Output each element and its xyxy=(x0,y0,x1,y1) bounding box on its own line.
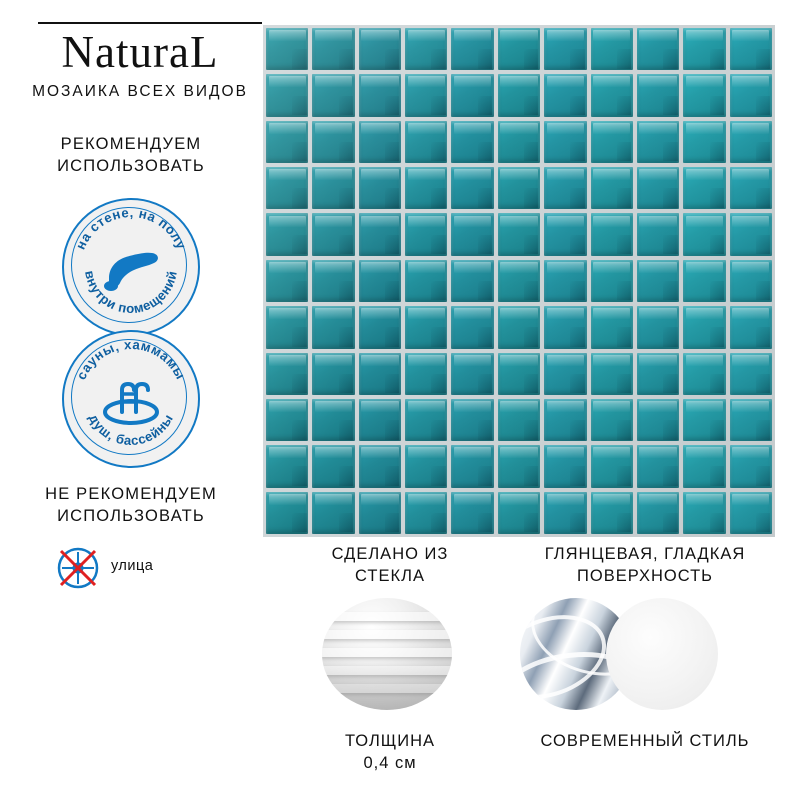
mosaic-tile xyxy=(637,213,679,255)
mosaic-tile xyxy=(405,121,447,163)
mosaic-tile xyxy=(544,306,586,348)
mosaic-tile xyxy=(359,492,401,534)
mosaic-tile xyxy=(405,492,447,534)
recommended-title-line1: РЕКОМЕНДУЕМ xyxy=(0,133,262,155)
mosaic-tile xyxy=(683,74,725,116)
mosaic-tile xyxy=(266,260,308,302)
mosaic-tile xyxy=(312,121,354,163)
mosaic-tile xyxy=(359,353,401,395)
mosaic-tile xyxy=(683,492,725,534)
mosaic-tile xyxy=(683,260,725,302)
mosaic-tile xyxy=(637,74,679,116)
mosaic-tile xyxy=(359,306,401,348)
brand-name: NaturaL xyxy=(20,30,260,75)
thickness-label: ТОЛЩИНА xyxy=(265,730,515,752)
mosaic-tile xyxy=(312,28,354,70)
recommended-title-line2: ИСПОЛЬЗОВАТЬ xyxy=(0,155,262,177)
mosaic-tile xyxy=(359,399,401,441)
pool-ladder-icon xyxy=(64,332,198,466)
mosaic-tile xyxy=(266,74,308,116)
mosaic-tile xyxy=(544,74,586,116)
product-infographic: NaturaL МОЗАИКА ВСЕХ ВИДОВ РЕКОМЕНДУЕМ И… xyxy=(0,0,800,800)
mosaic-tile xyxy=(637,445,679,487)
mosaic-tile xyxy=(359,213,401,255)
mosaic-tile xyxy=(683,445,725,487)
mosaic-tile xyxy=(312,74,354,116)
mosaic-tile xyxy=(544,28,586,70)
not-recommended-title-line2: ИСПОЛЬЗОВАТЬ xyxy=(0,505,262,527)
mosaic-tile xyxy=(498,121,540,163)
glass-sphere-icon xyxy=(322,598,452,710)
mosaic-tile xyxy=(405,260,447,302)
mosaic-tile xyxy=(359,74,401,116)
mosaic-tile xyxy=(359,167,401,209)
mosaic-tile xyxy=(405,167,447,209)
mosaic-tile xyxy=(591,492,633,534)
mosaic-tile xyxy=(405,445,447,487)
not-recommended-title-line1: НЕ РЕКОМЕНДУЕМ xyxy=(0,483,262,505)
mosaic-tile xyxy=(312,399,354,441)
mosaic-tile xyxy=(730,306,772,348)
mosaic-tile xyxy=(730,353,772,395)
mosaic-tile xyxy=(266,445,308,487)
mosaic-tile xyxy=(498,492,540,534)
mosaic-tile xyxy=(451,213,493,255)
mosaic-tile xyxy=(451,306,493,348)
mosaic-tile xyxy=(312,167,354,209)
mosaic-tile xyxy=(451,167,493,209)
mosaic-tile xyxy=(405,213,447,255)
mosaic-tile xyxy=(359,28,401,70)
mosaic-tile xyxy=(544,445,586,487)
mosaic-tile xyxy=(498,353,540,395)
brand-divider xyxy=(38,22,262,24)
mosaic-tile xyxy=(359,260,401,302)
mosaic-tile xyxy=(451,399,493,441)
mosaic-tile xyxy=(266,353,308,395)
feature-surface-title-line1: ГЛЯНЦЕВАЯ, ГЛАДКАЯ xyxy=(520,543,770,565)
mosaic-tile xyxy=(730,260,772,302)
mosaic-tile-grid xyxy=(263,25,775,537)
mosaic-tile xyxy=(312,306,354,348)
mosaic-tile xyxy=(591,260,633,302)
feature-surface-caption: СОВРЕМЕННЫЙ СТИЛЬ xyxy=(520,730,770,752)
mosaic-tile xyxy=(730,213,772,255)
mosaic-tile xyxy=(591,445,633,487)
brand-block: NaturaL МОЗАИКА ВСЕХ ВИДОВ xyxy=(20,30,260,101)
mosaic-tile xyxy=(359,445,401,487)
glossy-surface-icon xyxy=(520,598,770,710)
mosaic-tile xyxy=(591,213,633,255)
mosaic-tile xyxy=(683,213,725,255)
mosaic-tile xyxy=(730,167,772,209)
mosaic-tile xyxy=(591,399,633,441)
mosaic-tile xyxy=(451,260,493,302)
mosaic-tile xyxy=(637,399,679,441)
mosaic-tile xyxy=(266,167,308,209)
mosaic-tile xyxy=(591,121,633,163)
mosaic-tile xyxy=(683,353,725,395)
mosaic-tile xyxy=(544,121,586,163)
mosaic-tile xyxy=(730,445,772,487)
mosaic-tile xyxy=(683,306,725,348)
no-street-icon xyxy=(55,545,101,591)
mosaic-tile xyxy=(544,399,586,441)
mosaic-tile xyxy=(498,399,540,441)
mosaic-tile xyxy=(637,306,679,348)
mosaic-tile xyxy=(591,167,633,209)
mosaic-tile xyxy=(498,74,540,116)
feature-surface: ГЛЯНЦЕВАЯ, ГЛАДКАЯ ПОВЕРХНОСТЬ xyxy=(520,543,770,588)
thickness-value: 0,4 см xyxy=(265,752,515,774)
mosaic-tile xyxy=(544,167,586,209)
mosaic-tile xyxy=(312,445,354,487)
mosaic-tile xyxy=(544,492,586,534)
mosaic-tile xyxy=(312,353,354,395)
left-column: NaturaL МОЗАИКА ВСЕХ ВИДОВ РЕКОМЕНДУЕМ И… xyxy=(0,0,262,800)
mosaic-tile xyxy=(312,492,354,534)
mosaic-tile xyxy=(498,445,540,487)
mosaic-tile xyxy=(266,306,308,348)
feature-glass-title-line2: СТЕКЛА xyxy=(265,565,515,587)
mosaic-tile xyxy=(637,167,679,209)
foot-icon xyxy=(64,200,198,334)
street-label: улица xyxy=(111,558,153,574)
mosaic-tile xyxy=(451,74,493,116)
mosaic-tile xyxy=(266,28,308,70)
mosaic-tile xyxy=(266,213,308,255)
mosaic-tile xyxy=(637,492,679,534)
mosaic-tile xyxy=(591,353,633,395)
mosaic-tile xyxy=(683,121,725,163)
mosaic-tile xyxy=(498,213,540,255)
mosaic-tile xyxy=(498,28,540,70)
plain-swatch xyxy=(606,598,718,710)
mosaic-tile xyxy=(451,121,493,163)
mosaic-tile xyxy=(266,399,308,441)
mosaic-tile xyxy=(730,399,772,441)
recommended-title: РЕКОМЕНДУЕМ ИСПОЛЬЗОВАТЬ xyxy=(0,133,262,178)
mosaic-tile xyxy=(730,121,772,163)
mosaic-tile xyxy=(637,28,679,70)
mosaic-tile xyxy=(451,492,493,534)
mosaic-tile xyxy=(312,213,354,255)
mosaic-tile xyxy=(405,74,447,116)
brand-tagline: МОЗАИКА ВСЕХ ВИДОВ xyxy=(20,83,260,101)
mosaic-tile xyxy=(498,167,540,209)
mosaic-tile xyxy=(498,306,540,348)
mosaic-tile xyxy=(730,492,772,534)
mosaic-tile xyxy=(683,167,725,209)
mosaic-tile xyxy=(637,260,679,302)
badge-pool: сауны, хаммамы душ, бассейны xyxy=(62,330,200,468)
style-label: СОВРЕМЕННЫЙ СТИЛЬ xyxy=(520,730,770,752)
badge-indoor: на стене, на полу внутри помещений xyxy=(62,198,200,336)
mosaic-tile xyxy=(544,353,586,395)
mosaic-tile xyxy=(730,28,772,70)
mosaic-tile xyxy=(591,306,633,348)
mosaic-tile xyxy=(544,213,586,255)
mosaic-sample-image xyxy=(263,25,775,537)
not-recommended-item: улица xyxy=(55,545,255,591)
mosaic-tile xyxy=(591,74,633,116)
feature-glass: СДЕЛАНО ИЗ СТЕКЛА xyxy=(265,543,515,588)
mosaic-tile xyxy=(266,121,308,163)
mosaic-tile xyxy=(683,399,725,441)
feature-surface-title-line2: ПОВЕРХНОСТЬ xyxy=(520,565,770,587)
mosaic-tile xyxy=(591,28,633,70)
feature-glass-title-line1: СДЕЛАНО ИЗ xyxy=(265,543,515,565)
mosaic-tile xyxy=(683,28,725,70)
mosaic-tile xyxy=(405,399,447,441)
mosaic-tile xyxy=(405,28,447,70)
mosaic-tile xyxy=(405,353,447,395)
mosaic-tile xyxy=(451,445,493,487)
mosaic-tile xyxy=(405,306,447,348)
mosaic-tile xyxy=(544,260,586,302)
mosaic-tile xyxy=(266,492,308,534)
mosaic-tile xyxy=(730,74,772,116)
mosaic-tile xyxy=(637,121,679,163)
not-recommended-title: НЕ РЕКОМЕНДУЕМ ИСПОЛЬЗОВАТЬ xyxy=(0,483,262,528)
feature-glass-caption: ТОЛЩИНА 0,4 см xyxy=(265,730,515,775)
mosaic-tile xyxy=(498,260,540,302)
mosaic-tile xyxy=(451,353,493,395)
mosaic-tile xyxy=(637,353,679,395)
mosaic-tile xyxy=(312,260,354,302)
mosaic-tile xyxy=(451,28,493,70)
mosaic-tile xyxy=(359,121,401,163)
